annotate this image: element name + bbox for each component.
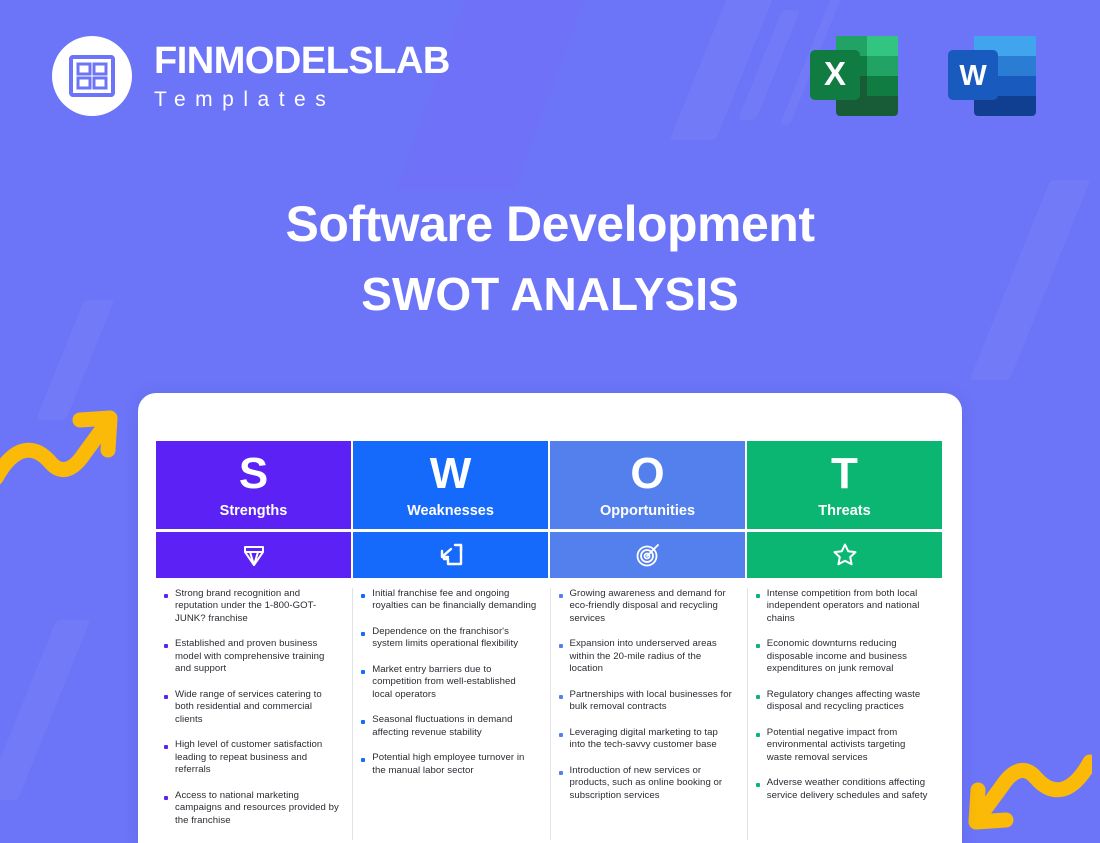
- list-item: Established and proven business model wi…: [160, 638, 340, 675]
- icon-col-opportunities: [550, 532, 745, 578]
- bullet-text: Initial franchise fee and ongoing royalt…: [372, 588, 537, 613]
- swot-column-opportunities[interactable]: O Opportunities: [550, 441, 745, 529]
- bullet-dot: [756, 733, 760, 737]
- bullet-list-weaknesses: Initial franchise fee and ongoing royalt…: [352, 588, 547, 840]
- swot-letter: W: [430, 452, 472, 496]
- bullet-dot: [559, 594, 563, 598]
- bullet-dot: [756, 783, 760, 787]
- list-item: Economic downturns reducing disposable i…: [752, 638, 932, 675]
- icon-col-weaknesses: [353, 532, 548, 578]
- bullet-text: Market entry barriers due to competition…: [372, 664, 537, 701]
- list-item: Partnerships with local businesses for b…: [555, 689, 735, 714]
- bullet-dot: [559, 733, 563, 737]
- bullet-text: Regulatory changes affecting waste dispo…: [767, 689, 932, 714]
- bullet-dot: [361, 632, 365, 636]
- header-cell: S Strengths: [156, 441, 351, 529]
- icon-col-threats: [747, 532, 942, 578]
- bullet-dot: [164, 745, 168, 749]
- bullet-list-strengths: Strong brand recognition and reputation …: [156, 588, 350, 840]
- bullet-dot: [164, 796, 168, 800]
- list-item: Leveraging digital marketing to tap into…: [555, 727, 735, 752]
- star-outline-icon: [832, 542, 858, 568]
- list-item: Adverse weather conditions affecting ser…: [752, 777, 932, 802]
- svg-text:W: W: [959, 60, 987, 92]
- bullet-dot: [164, 695, 168, 699]
- brush-texture: [0, 620, 90, 800]
- bullet-text: Growing awareness and demand for eco-fri…: [570, 588, 735, 625]
- bullet-text: Seasonal fluctuations in demand affectin…: [372, 714, 537, 739]
- swot-label: Threats: [818, 504, 870, 519]
- bullet-list-opportunities: Growing awareness and demand for eco-fri…: [550, 588, 745, 840]
- header-cell: W Weaknesses: [353, 441, 548, 529]
- logo-badge: [52, 36, 132, 116]
- list-item: Wide range of services catering to both …: [160, 689, 340, 726]
- bullet-text: Economic downturns reducing disposable i…: [767, 638, 932, 675]
- icon-cell: [550, 532, 745, 578]
- list-item: Strong brand recognition and reputation …: [160, 588, 340, 625]
- list-item: Potential high employee turnover in the …: [357, 752, 537, 777]
- word-file-icon: W: [946, 28, 1052, 123]
- bullet-dot: [559, 771, 563, 775]
- header-cell: O Opportunities: [550, 441, 745, 529]
- squiggle-arrow-down-left-icon: [962, 752, 1092, 838]
- bullet-dot: [361, 720, 365, 724]
- descending-stairs-arrow-icon: [438, 542, 464, 568]
- swot-label: Weaknesses: [407, 504, 494, 519]
- squiggle-arrow-up-right-icon: [0, 402, 124, 488]
- bullet-dot: [559, 644, 563, 648]
- swot-column-weaknesses[interactable]: W Weaknesses: [353, 441, 548, 529]
- list-item: Dependence on the franchisor's system li…: [357, 626, 537, 651]
- bullet-text: Strong brand recognition and reputation …: [175, 588, 340, 625]
- swot-letter: O: [630, 452, 664, 496]
- svg-text:X: X: [824, 55, 846, 92]
- excel-file-icon: X: [808, 28, 914, 123]
- brand-tagline: Templates: [154, 89, 450, 110]
- list-item: Growing awareness and demand for eco-fri…: [555, 588, 735, 625]
- bullet-text: Dependence on the franchisor's system li…: [372, 626, 537, 651]
- icon-cell: [353, 532, 548, 578]
- icon-cell: [747, 532, 942, 578]
- bullet-text: Potential negative impact from environme…: [767, 727, 932, 764]
- list-item: Regulatory changes affecting waste dispo…: [752, 689, 932, 714]
- bullet-dot: [756, 594, 760, 598]
- bullet-text: Intense competition from both local inde…: [767, 588, 932, 625]
- bullet-text: Access to national marketing campaigns a…: [175, 790, 340, 827]
- brand-text: FINMODELSLAB Templates: [154, 42, 450, 110]
- title-block: Software Development SWOT ANALYSIS: [0, 196, 1100, 320]
- bullet-text: High level of customer satisfaction lead…: [175, 739, 340, 776]
- bullet-text: Adverse weather conditions affecting ser…: [767, 777, 932, 802]
- swot-body-row: Strong brand recognition and reputation …: [156, 588, 942, 840]
- swot-letter: S: [239, 452, 268, 496]
- bullet-text: Potential high employee turnover in the …: [372, 752, 537, 777]
- bullet-dot: [756, 695, 760, 699]
- bullet-text: Introduction of new services or products…: [570, 765, 735, 802]
- list-item: Market entry barriers due to competition…: [357, 664, 537, 701]
- bullet-dot: [361, 758, 365, 762]
- brush-texture: [670, 0, 777, 140]
- grid-squares-icon: [69, 55, 115, 97]
- bullet-text: Leveraging digital marketing to tap into…: [570, 727, 735, 752]
- list-item: Intense competition from both local inde…: [752, 588, 932, 625]
- bullet-list-threats: Intense competition from both local inde…: [747, 588, 942, 840]
- bullet-dot: [361, 670, 365, 674]
- bullet-dot: [756, 644, 760, 648]
- icon-cell: [156, 532, 351, 578]
- list-item: Seasonal fluctuations in demand affectin…: [357, 714, 537, 739]
- swot-table: S Strengths W Weaknesses O Opportunities: [156, 441, 942, 840]
- bullet-text: Established and proven business model wi…: [175, 638, 340, 675]
- icon-col-strengths: [156, 532, 351, 578]
- list-item: High level of customer satisfaction lead…: [160, 739, 340, 776]
- swot-column-strengths[interactable]: S Strengths: [156, 441, 351, 529]
- diamond-gem-icon: [241, 542, 267, 568]
- swot-letter: T: [831, 452, 858, 496]
- list-item: Initial franchise fee and ongoing royalt…: [357, 588, 537, 613]
- page-subtitle: SWOT ANALYSIS: [0, 268, 1100, 321]
- list-item: Expansion into underserved areas within …: [555, 638, 735, 675]
- list-item: Access to national marketing campaigns a…: [160, 790, 340, 827]
- page-title: Software Development: [0, 196, 1100, 254]
- bullet-text: Wide range of services catering to both …: [175, 689, 340, 726]
- target-bullseye-icon: [635, 542, 661, 568]
- swot-column-threats[interactable]: T Threats: [747, 441, 942, 529]
- brand-name: FINMODELSLAB: [154, 42, 450, 80]
- swot-label: Strengths: [220, 504, 288, 519]
- list-item: Introduction of new services or products…: [555, 765, 735, 802]
- swot-card: S Strengths W Weaknesses O Opportunities: [138, 393, 962, 843]
- brush-texture: [738, 10, 800, 120]
- file-format-icons: X W: [808, 28, 1052, 123]
- bullet-dot: [164, 594, 168, 598]
- list-item: Potential negative impact from environme…: [752, 727, 932, 764]
- bullet-text: Partnerships with local businesses for b…: [570, 689, 735, 714]
- bullet-dot: [559, 695, 563, 699]
- bullet-text: Expansion into underserved areas within …: [570, 638, 735, 675]
- swot-icon-row: [156, 532, 942, 578]
- bullet-dot: [164, 644, 168, 648]
- bullet-dot: [361, 594, 365, 598]
- swot-label: Opportunities: [600, 504, 695, 519]
- brand-logo: FINMODELSLAB Templates: [52, 36, 450, 116]
- swot-header-row: S Strengths W Weaknesses O Opportunities: [156, 441, 942, 529]
- slide-canvas: FINMODELSLAB Templates X W Software Deve…: [0, 0, 1100, 843]
- header-cell: T Threats: [747, 441, 942, 529]
